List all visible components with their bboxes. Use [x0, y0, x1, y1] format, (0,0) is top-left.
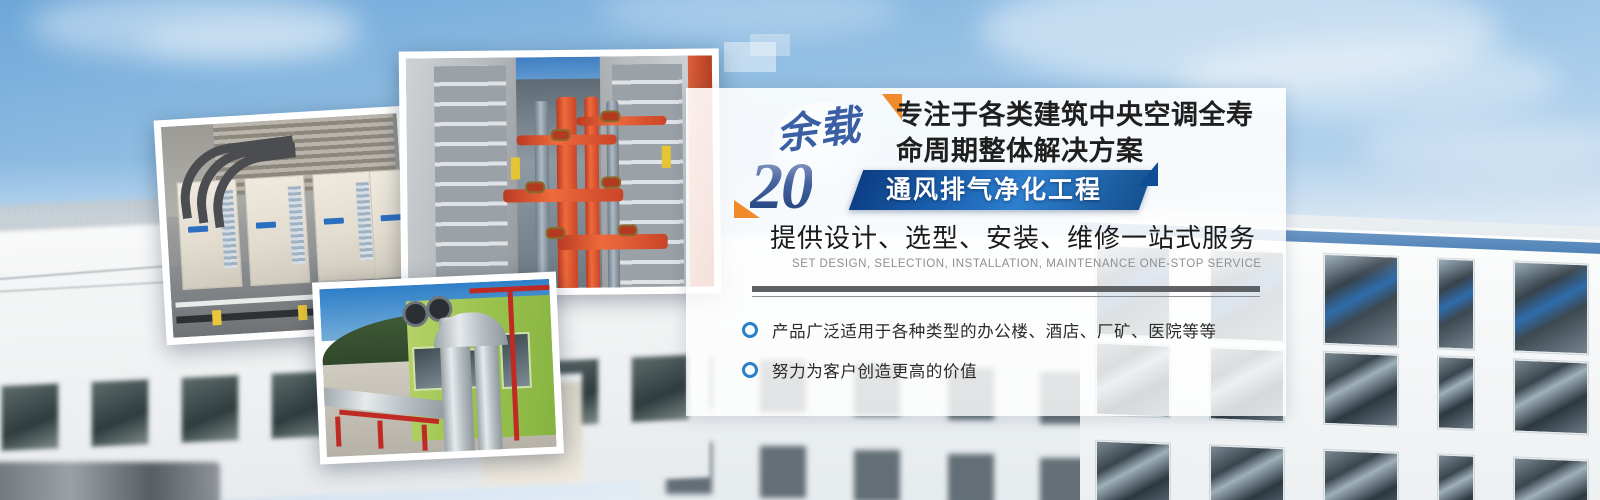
circle-bullet-icon [742, 322, 758, 338]
english-subline: SET DESIGN, SELECTION, INSTALLATION, MAI… [792, 258, 1262, 270]
chevron-accent-icon [734, 200, 760, 218]
years-label: 余载 [774, 105, 864, 156]
headline: 专注于各类建筑中央空调全寿命周期整体解决方案 [896, 98, 1276, 169]
divider-thick [752, 286, 1260, 292]
bullet-list: 产品广泛适用于各种类型的办公楼、酒店、厂矿、医院等等 努力为客户创造更高的价值 [742, 310, 1262, 390]
circle-bullet-icon [742, 362, 758, 378]
list-item-label: 产品广泛适用于各种类型的办公楼、酒店、厂矿、医院等等 [772, 318, 1217, 342]
divider-thin [752, 296, 1260, 297]
subline: 提供设计、选型、安装、维修一站式服务 [770, 223, 1270, 254]
cloud [1360, 120, 1600, 175]
parked-cars [0, 462, 220, 500]
decor-rectangle [750, 34, 790, 56]
list-item: 产品广泛适用于各种类型的办公楼、酒店、厂矿、医院等等 [742, 310, 1262, 350]
hero-banner: 余载 20 专注于各类建筑中央空调全寿命周期整体解决方案 通风排气净化工程 提供… [0, 0, 1600, 500]
ribbon-label: 通风排气净化工程 [886, 174, 1156, 207]
content-panel: 余载 20 专注于各类建筑中央空调全寿命周期整体解决方案 通风排气净化工程 提供… [686, 88, 1286, 416]
list-item-label: 努力为客户创造更高的价值 [772, 358, 977, 382]
cloud [140, 20, 360, 60]
photo-card-chilled-water-pipework[interactable] [399, 48, 722, 296]
list-item: 努力为客户创造更高的价值 [742, 350, 1262, 390]
photo-card-rooftop-ductwork[interactable] [312, 272, 564, 465]
